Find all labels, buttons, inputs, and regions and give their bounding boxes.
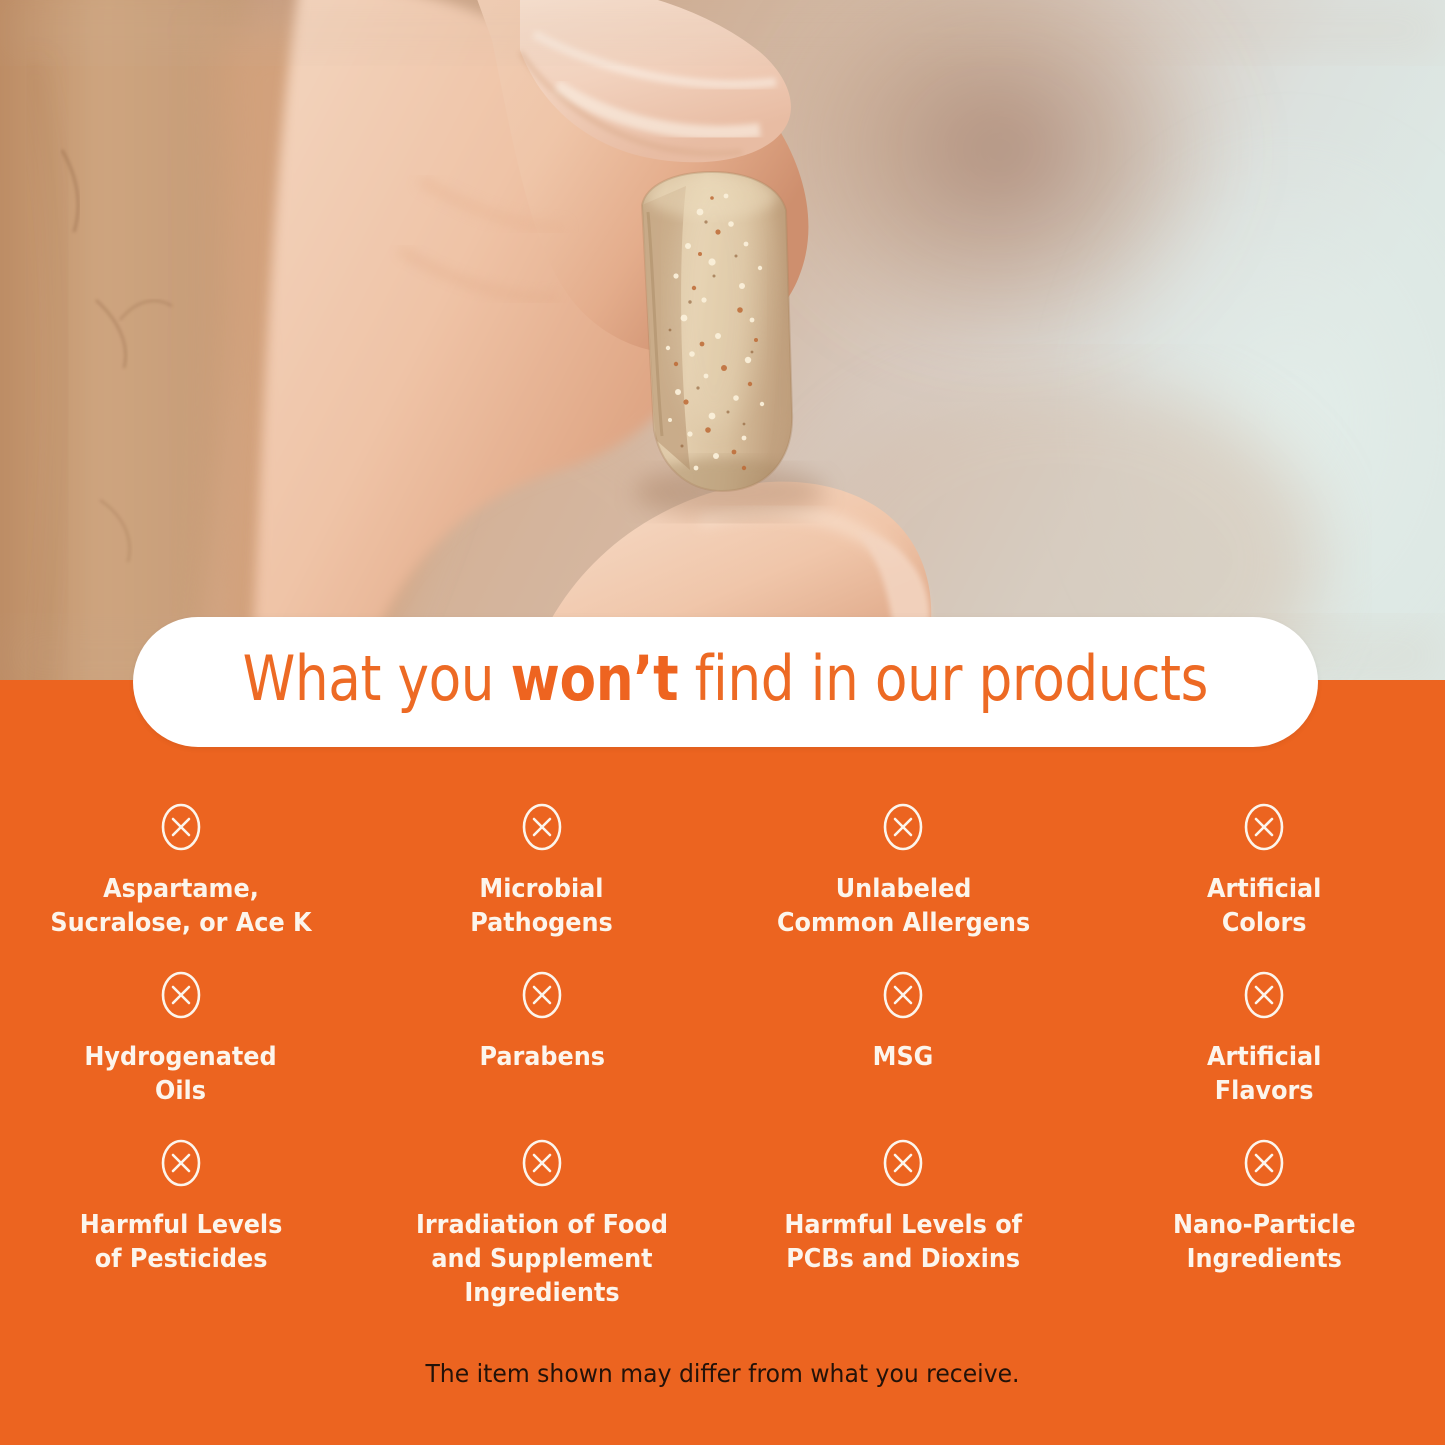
circle-x-icon xyxy=(160,970,202,1020)
exclusion-label: Nano-Particle Ingredients xyxy=(1173,1208,1356,1276)
title-pill: What you won’t find in our products xyxy=(133,617,1318,747)
exclusions-grid: Aspartame, Sucralose, or Ace K Microbial… xyxy=(0,780,1445,1316)
exclusion-label: Hydrogenated Oils xyxy=(84,1040,276,1108)
title-part-2: find in our products xyxy=(678,642,1208,715)
exclusion-item: Harmful Levels of Pesticides xyxy=(0,1116,361,1316)
exclusion-label: Harmful Levels of PCBs and Dioxins xyxy=(784,1208,1022,1276)
exclusion-item: Harmful Levels of PCBs and Dioxins xyxy=(723,1116,1084,1316)
circle-x-icon xyxy=(1243,802,1285,852)
exclusion-item: Artificial Colors xyxy=(1084,780,1445,948)
exclusion-label: Irradiation of Food and Supplement Ingre… xyxy=(416,1208,668,1310)
exclusion-label: Aspartame, Sucralose, or Ace K xyxy=(50,872,311,940)
exclusion-item: Parabens xyxy=(361,948,722,1116)
exclusion-item: Nano-Particle Ingredients xyxy=(1084,1116,1445,1316)
circle-x-icon xyxy=(882,1138,924,1188)
page-title: What you won’t find in our products xyxy=(243,648,1208,716)
circle-x-icon xyxy=(521,802,563,852)
exclusion-item: Hydrogenated Oils xyxy=(0,948,361,1116)
exclusion-item: Unlabeled Common Allergens xyxy=(723,780,1084,948)
title-emphasis: won’t xyxy=(511,642,678,715)
circle-x-icon xyxy=(1243,1138,1285,1188)
exclusion-label: Harmful Levels of Pesticides xyxy=(79,1208,282,1276)
exclusion-label: MSG xyxy=(873,1040,934,1074)
exclusion-item: Artificial Flavors xyxy=(1084,948,1445,1116)
title-part-1: What you xyxy=(243,642,511,715)
circle-x-icon xyxy=(882,802,924,852)
disclaimer-note: The item shown may differ from what you … xyxy=(43,1358,1401,1390)
hero-photo xyxy=(0,0,1445,690)
circle-x-icon xyxy=(1243,970,1285,1020)
circle-x-icon xyxy=(521,1138,563,1188)
exclusions-row-2: Hydrogenated Oils Parabens MSG xyxy=(0,948,1445,1116)
exclusion-item: MSG xyxy=(723,948,1084,1116)
infographic-canvas: What you won’t find in our products Aspa… xyxy=(0,0,1445,1445)
exclusion-label: Artificial Colors xyxy=(1207,872,1321,940)
exclusion-item: Aspartame, Sucralose, or Ace K xyxy=(0,780,361,948)
exclusion-label: Parabens xyxy=(479,1040,605,1074)
exclusion-label: Artificial Flavors xyxy=(1207,1040,1321,1108)
circle-x-icon xyxy=(160,1138,202,1188)
circle-x-icon xyxy=(521,970,563,1020)
circle-x-icon xyxy=(882,970,924,1020)
exclusion-item: Irradiation of Food and Supplement Ingre… xyxy=(361,1116,722,1316)
circle-x-icon xyxy=(160,802,202,852)
exclusion-label: Microbial Pathogens xyxy=(471,872,614,940)
exclusion-label: Unlabeled Common Allergens xyxy=(777,872,1030,940)
exclusion-item: Microbial Pathogens xyxy=(361,780,722,948)
exclusions-row-1: Aspartame, Sucralose, or Ace K Microbial… xyxy=(0,780,1445,948)
exclusions-row-3: Harmful Levels of Pesticides Irradiation… xyxy=(0,1116,1445,1316)
